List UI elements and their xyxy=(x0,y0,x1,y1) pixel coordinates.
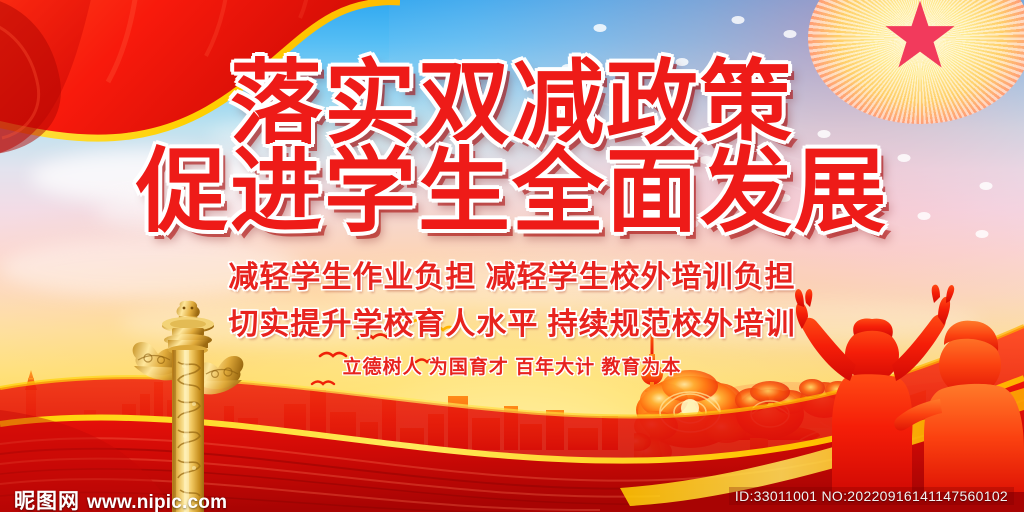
sky-background xyxy=(0,0,1024,512)
poster-canvas: 落实双减政策 促进学生全面发展 减轻学生作业负担 减轻学生校外培训负担 切实提升… xyxy=(0,0,1024,512)
